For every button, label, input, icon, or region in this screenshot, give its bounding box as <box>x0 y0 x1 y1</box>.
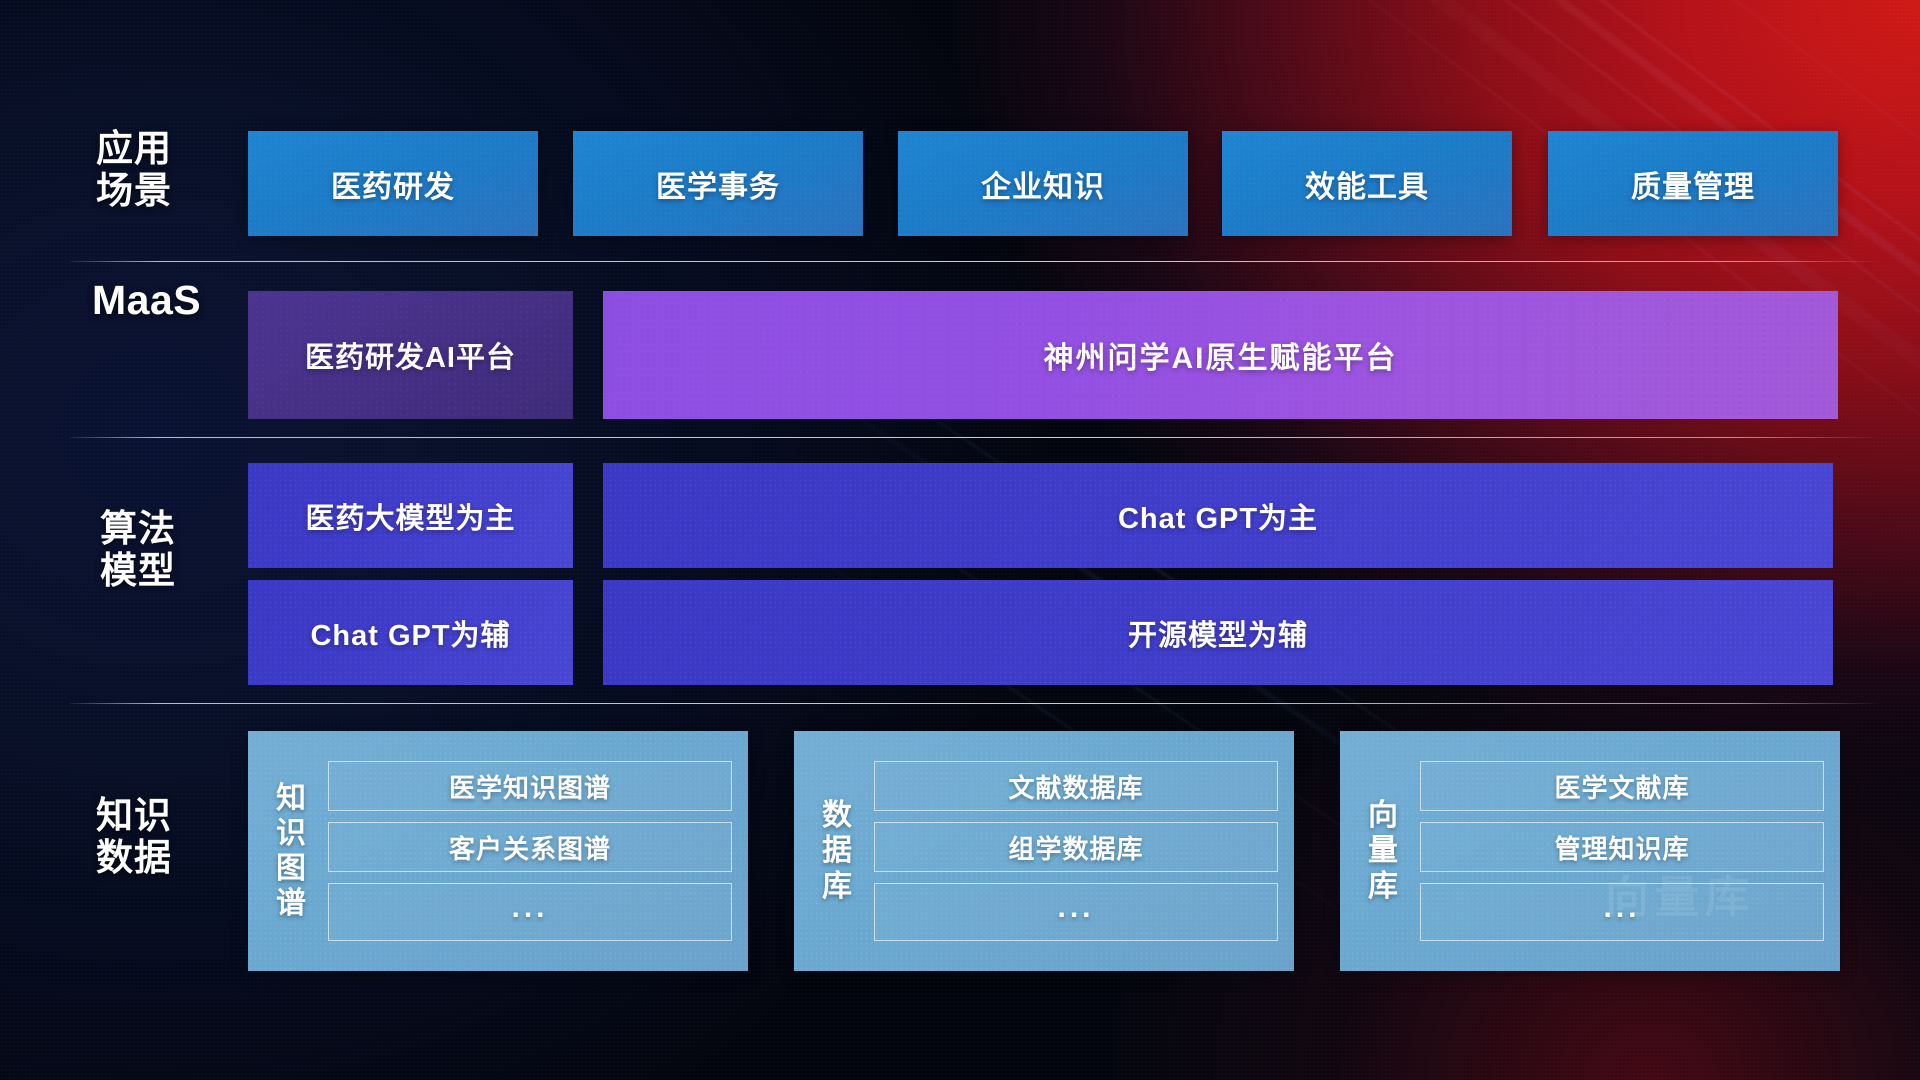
algorithm-box-label: Chat GPT为辅 <box>310 612 510 654</box>
divider-algorithm-knowledge <box>70 703 1880 704</box>
application-box-label: 医学事务 <box>656 162 780 206</box>
application-box-label: 效能工具 <box>1305 162 1429 206</box>
slide-canvas: 应用 场景 MaaS 算法 模型 知识 数据 医药研发 医学事务 企业知识 效能… <box>0 0 1920 1080</box>
knowledge-item[interactable]: 客户关系图谱 <box>328 822 732 872</box>
knowledge-item[interactable]: 文献数据库 <box>874 761 1278 811</box>
architecture-diagram: 应用 场景 MaaS 算法 模型 知识 数据 医药研发 医学事务 企业知识 效能… <box>0 0 1920 1080</box>
application-box-label: 企业知识 <box>981 162 1105 206</box>
knowledge-group-title: 知识图谱 <box>268 781 314 921</box>
knowledge-item-more[interactable]: ... <box>874 883 1278 941</box>
algorithm-box-chatgpt-secondary[interactable]: Chat GPT为辅 <box>248 580 573 685</box>
knowledge-group-title: 向量库 <box>1360 798 1406 903</box>
application-box-efficiency-tools[interactable]: 效能工具 <box>1222 131 1512 236</box>
knowledge-item[interactable]: 组学数据库 <box>874 822 1278 872</box>
application-box-quality-management[interactable]: 质量管理 <box>1548 131 1838 236</box>
algorithm-box-chatgpt-primary[interactable]: Chat GPT为主 <box>603 463 1833 568</box>
row-label-maas: MaaS <box>92 277 242 323</box>
knowledge-item[interactable]: 医学知识图谱 <box>328 761 732 811</box>
knowledge-group-vector-store[interactable]: 向量库 医学文献库 管理知识库 ... 向量库 <box>1340 731 1840 971</box>
knowledge-group-knowledge-graph[interactable]: 知识图谱 医学知识图谱 客户关系图谱 ... <box>248 731 748 971</box>
knowledge-group-items: 医学知识图谱 客户关系图谱 ... <box>328 744 732 958</box>
application-box-medicine-rd[interactable]: 医药研发 <box>248 131 538 236</box>
knowledge-group-items: 医学文献库 管理知识库 ... <box>1420 744 1824 958</box>
knowledge-item[interactable]: 管理知识库 <box>1420 822 1824 872</box>
knowledge-item-more[interactable]: ... <box>1420 883 1824 941</box>
application-box-enterprise-knowledge[interactable]: 企业知识 <box>898 131 1188 236</box>
divider-application-maas <box>70 261 1880 262</box>
application-box-label: 医药研发 <box>331 162 455 206</box>
algorithm-box-medicine-llm-primary[interactable]: 医药大模型为主 <box>248 463 573 568</box>
algorithm-box-label: Chat GPT为主 <box>1118 495 1318 537</box>
application-box-medical-affairs[interactable]: 医学事务 <box>573 131 863 236</box>
knowledge-group-items: 文献数据库 组学数据库 ... <box>874 744 1278 958</box>
maas-box-medicine-rd-ai-platform[interactable]: 医药研发AI平台 <box>248 291 573 419</box>
maas-box-label: 神州问学AI原生赋能平台 <box>1044 333 1398 377</box>
row-label-algorithm: 算法 模型 <box>100 508 220 592</box>
divider-maas-algorithm <box>70 437 1880 438</box>
algorithm-box-label: 医药大模型为主 <box>305 495 515 537</box>
knowledge-group-title: 数据库 <box>814 798 860 903</box>
application-box-label: 质量管理 <box>1631 162 1755 206</box>
row-label-knowledge: 知识 数据 <box>96 795 216 879</box>
maas-box-label: 医药研发AI平台 <box>305 334 516 376</box>
row-label-application: 应用 场景 <box>96 128 216 212</box>
knowledge-item[interactable]: 医学文献库 <box>1420 761 1824 811</box>
knowledge-group-database[interactable]: 数据库 文献数据库 组学数据库 ... <box>794 731 1294 971</box>
algorithm-box-label: 开源模型为辅 <box>1128 612 1308 654</box>
knowledge-item-more[interactable]: ... <box>328 883 732 941</box>
algorithm-box-open-source-secondary[interactable]: 开源模型为辅 <box>603 580 1833 685</box>
maas-box-shenzhou-wenxue-platform[interactable]: 神州问学AI原生赋能平台 <box>603 291 1838 419</box>
